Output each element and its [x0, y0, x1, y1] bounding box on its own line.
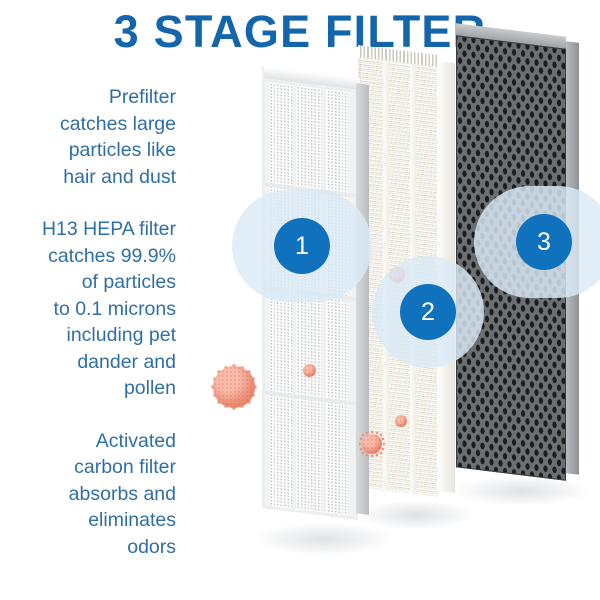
copy-line: hair and dust — [0, 164, 176, 191]
copy-line: carbon filter — [0, 454, 176, 481]
copy-line: odors — [0, 534, 176, 561]
copy-line: catches large — [0, 111, 176, 138]
badge-label-3: 3 — [516, 214, 572, 270]
badge-stage-3[interactable]: 3 — [488, 186, 600, 298]
badge-stage-1[interactable]: 1 — [246, 190, 358, 302]
copy-block-prefilter: Prefilter catches large particles like h… — [0, 84, 176, 190]
copy-line: Activated — [0, 428, 176, 455]
copy-line: eliminates — [0, 507, 176, 534]
badge-label-2: 2 — [400, 284, 456, 340]
particle-hepa-low — [362, 434, 382, 454]
copy-block-carbon: Activated carbon filter absorbs and elim… — [0, 428, 176, 561]
copy-line: H13 HEPA filter — [0, 216, 176, 243]
copy-line: absorbs and — [0, 481, 176, 508]
badge-stage-2[interactable]: 2 — [372, 256, 484, 368]
badge-label-1: 1 — [274, 218, 330, 274]
copy-block-hepa: H13 HEPA filter catches 99.9% of particl… — [0, 216, 176, 402]
copy-line: to 0.1 microns — [0, 296, 176, 323]
panel-shadow — [356, 500, 476, 530]
particle-hepa-mid — [395, 415, 407, 427]
panel-shadow — [452, 476, 592, 506]
copy-line: catches 99.9% — [0, 243, 176, 270]
copy-line: particles like — [0, 137, 176, 164]
particle-large-left — [213, 366, 255, 408]
particle-prefilter — [303, 364, 316, 377]
copy-line: Prefilter — [0, 84, 176, 111]
copy-line: of particles — [0, 269, 176, 296]
panel-shadow — [254, 522, 394, 556]
copy-line: pollen — [0, 375, 176, 402]
copy-line: including pet — [0, 322, 176, 349]
infographic-canvas: 3 STAGE FILTER Prefilter catches large p… — [0, 0, 600, 600]
feature-description-column: Prefilter catches large particles like h… — [0, 84, 176, 560]
copy-line: dander and — [0, 349, 176, 376]
